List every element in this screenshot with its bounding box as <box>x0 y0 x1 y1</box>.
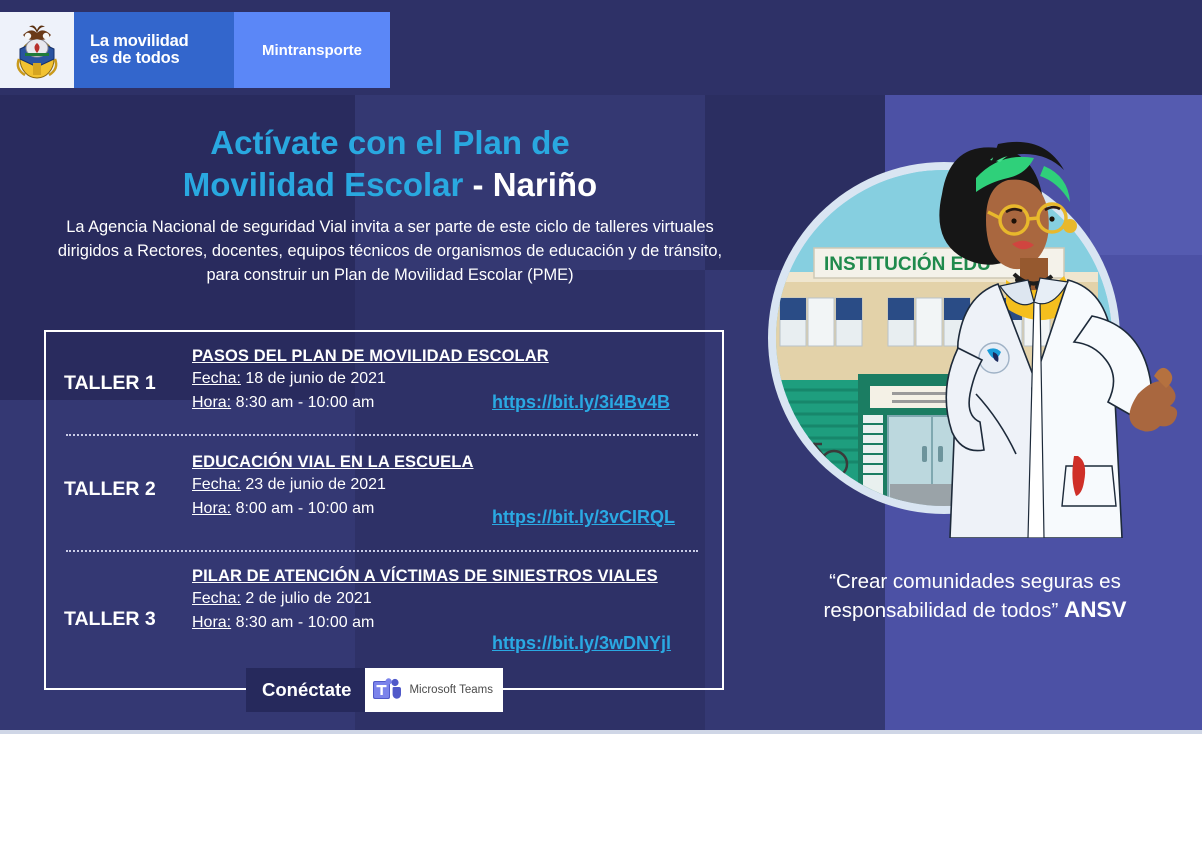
gov-slogan: La movilidad es de todos <box>74 12 234 88</box>
quote-attribution: ANSV <box>1064 597 1127 622</box>
footer-top-rule <box>0 730 1202 734</box>
government-header-bar: La movilidad es de todos Mintransporte <box>0 12 390 88</box>
connect-label: Conéctate <box>246 668 365 712</box>
title-line-2-blue: Movilidad Escolar <box>183 166 464 203</box>
school-illustration: INSTITUCIÓN EDU <box>762 108 1194 538</box>
microsoft-teams-icon <box>373 677 403 703</box>
gov-slogan-line2: es de todos <box>90 49 180 67</box>
teams-label: Microsoft Teams <box>409 684 493 696</box>
quote-block: “Crear comunidades seguras es responsabi… <box>755 568 1195 626</box>
workshops-box <box>44 330 724 690</box>
ministry-badge: Mintransporte <box>234 12 390 88</box>
poster-root: La movilidad es de todos Mintransporte A… <box>0 0 1202 857</box>
title-line-2-white: - Nariño <box>463 166 597 203</box>
colombia-coat-of-arms-icon <box>0 12 74 88</box>
ministry-label: Mintransporte <box>262 42 362 59</box>
footer-bar <box>0 730 1202 857</box>
connect-badge[interactable]: Conéctate Microsoft Teams <box>246 668 503 712</box>
gov-slogan-line1: La movilidad <box>90 32 188 50</box>
title-line-2: Movilidad Escolar - Nariño <box>60 164 720 206</box>
page-title: Actívate con el Plan de Movilidad Escola… <box>60 122 720 206</box>
microsoft-teams-badge[interactable]: Microsoft Teams <box>365 668 503 712</box>
intro-paragraph: La Agencia Nacional de seguridad Vial in… <box>50 216 730 287</box>
title-line-1: Actívate con el Plan de <box>60 122 720 164</box>
